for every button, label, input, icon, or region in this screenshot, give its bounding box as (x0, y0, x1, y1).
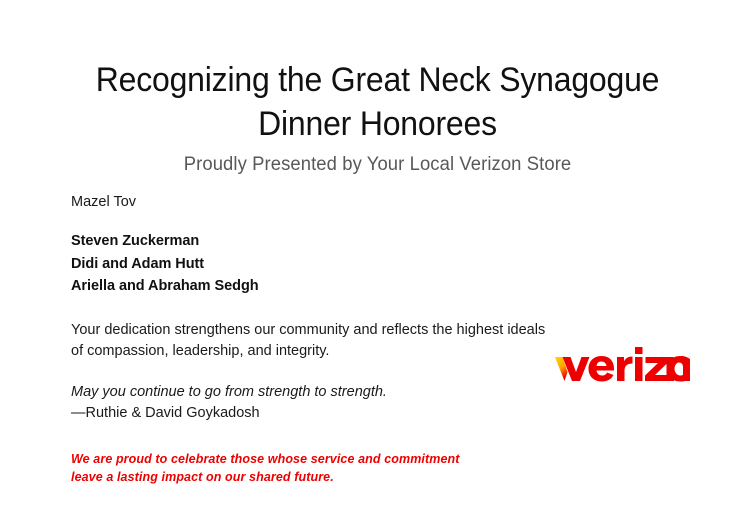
document-page: Recognizing the Great Neck Synagogue Din… (0, 0, 755, 516)
list-item: Ariella and Abraham Sedgh (71, 275, 591, 298)
list-item: Didi and Adam Hutt (71, 253, 591, 276)
closing-statement: We are proud to celebrate those whose se… (71, 450, 591, 487)
closing-line-2: leave a lasting impact on our shared fut… (71, 468, 591, 487)
body-content: Mazel Tov Steven Zuckerman Didi and Adam… (71, 192, 591, 487)
list-item: Steven Zuckerman (71, 230, 591, 253)
title-line-2: Dinner Honorees (23, 102, 733, 146)
closing-line-1: We are proud to celebrate those whose se… (71, 450, 591, 469)
blessing-text: May you continue to go from strength to … (71, 382, 591, 403)
body-paragraph: Your dedication strengthens our communit… (71, 320, 551, 362)
attribution-text: —Ruthie & David Goykadosh (71, 403, 591, 424)
page-subtitle: Proudly Presented by Your Local Verizon … (11, 154, 743, 176)
page-title: Recognizing the Great Neck Synagogue Din… (0, 58, 755, 146)
salutation-text: Mazel Tov (71, 192, 591, 212)
honoree-list: Steven Zuckerman Didi and Adam Hutt Arie… (71, 230, 591, 298)
verizon-logo (554, 346, 690, 384)
title-line-1: Recognizing the Great Neck Synagogue (23, 58, 733, 102)
